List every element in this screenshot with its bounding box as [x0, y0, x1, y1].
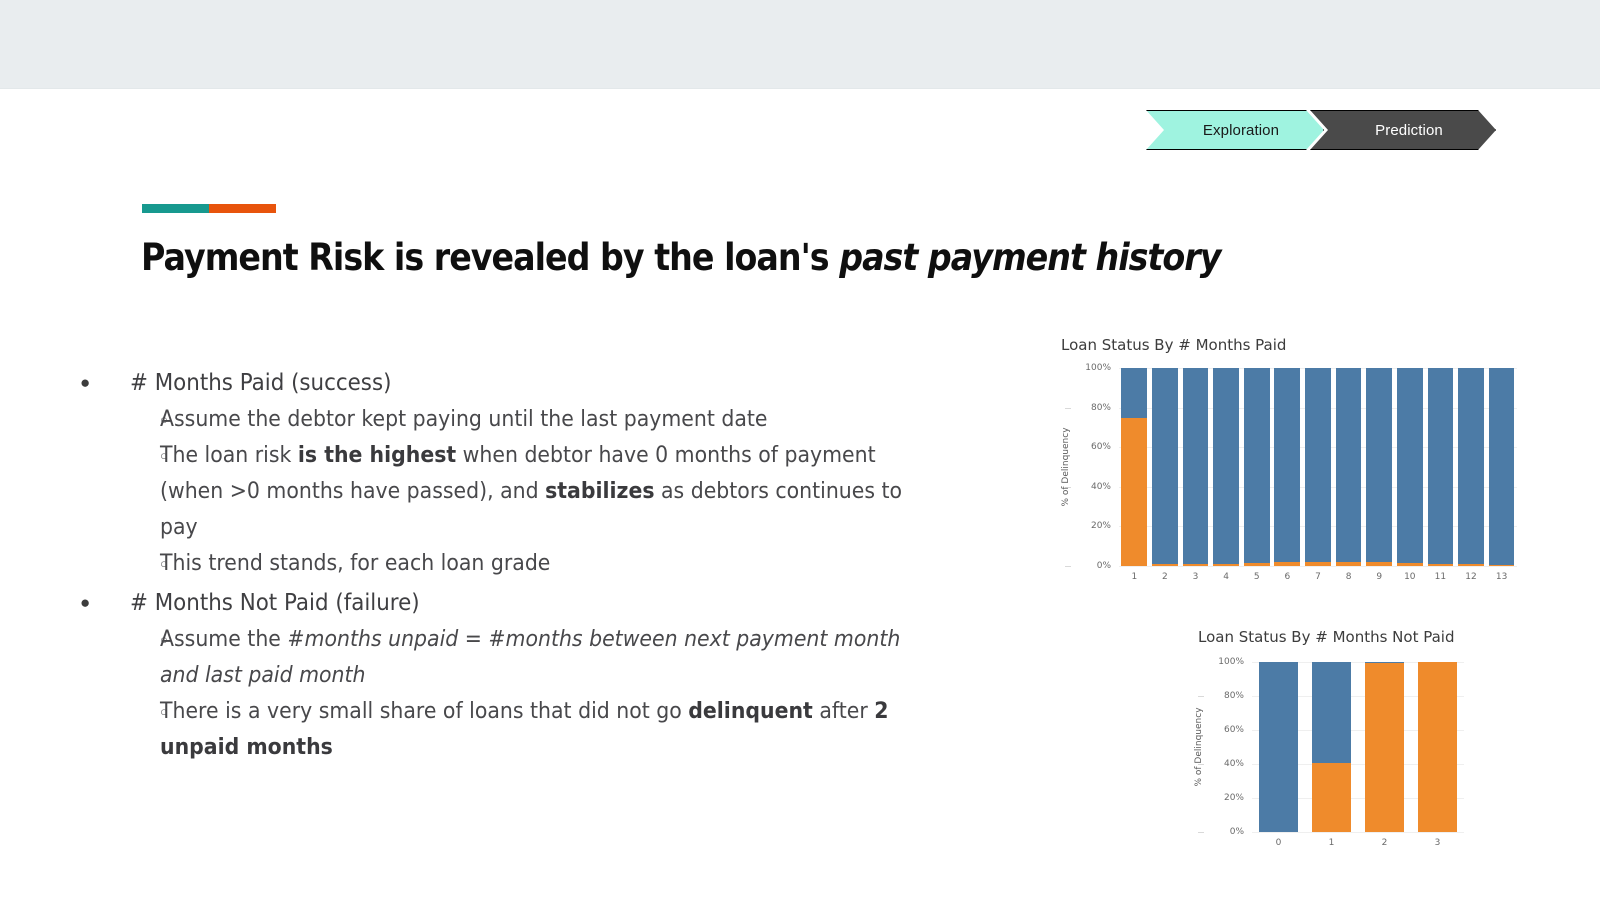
bullet-marker-icon: ●: [72, 364, 130, 402]
chart-x-tick-label: 3: [1411, 838, 1464, 848]
chart-bar-slot: [1150, 368, 1181, 566]
chart-y-tick-label: 80%: [1224, 691, 1244, 701]
chart-bar-slot: [1364, 368, 1395, 566]
chart-months-not-paid-title: Loan Status By # Months Not Paid: [1198, 628, 1530, 646]
page-title-emphasis: past payment history: [839, 236, 1220, 279]
chart-bar[interactable]: [1274, 368, 1300, 566]
chart-y-tick-label: 0%: [1230, 827, 1244, 837]
chart-bar[interactable]: [1121, 368, 1147, 566]
chart-bar[interactable]: [1312, 662, 1351, 832]
sub-bullet-marker-icon: ○: [72, 694, 160, 730]
header-band: [0, 0, 1600, 89]
chart-months-paid: Loan Status By # Months Paid 0%20%40%60%…: [1059, 336, 1529, 596]
chart-bar-segment-delinquent: [1366, 562, 1392, 566]
chart-bar-segment-delinquent: [1458, 564, 1484, 566]
chart-y-tick-label: 100%: [1085, 363, 1111, 373]
chart-y-tick-label: 40%: [1091, 482, 1111, 492]
chart-x-tick-label: 11: [1425, 572, 1456, 582]
chart-bar-slot: [1272, 368, 1303, 566]
chart-bar-segment-delinquent: [1489, 565, 1515, 566]
chart-x-tick-label: 10: [1394, 572, 1425, 582]
sub-bullet-marker-icon: ○: [72, 546, 160, 582]
chart-bar[interactable]: [1152, 368, 1178, 566]
chart-bar-slot: [1425, 368, 1456, 566]
chart-bar-slot: [1180, 368, 1211, 566]
chart-months-paid-title: Loan Status By # Months Paid: [1061, 336, 1529, 354]
chart-x-tick-label: 7: [1303, 572, 1334, 582]
bullet-sub-item-text: There is a very small share of loans tha…: [160, 694, 904, 766]
chart-bar-segment-not-delinquent: [1397, 368, 1423, 563]
chart-bar-slot: [1411, 662, 1464, 832]
chevron-step-exploration[interactable]: Exploration: [1146, 110, 1324, 150]
chevron-step-prediction-label: Prediction: [1375, 123, 1443, 138]
chart-bar[interactable]: [1305, 368, 1331, 566]
bullet-group: ●# Months Paid (success): [72, 364, 1032, 402]
chart-y-tick-label: 0%: [1097, 561, 1111, 571]
chart-months-paid-plot: 0%20%40%60%80%100%% of Delinquency123456…: [1119, 368, 1517, 566]
bullet-sub-item-text: This trend stands, for each loan grade: [160, 546, 550, 582]
bullet-sub-item: ○This trend stands, for each loan grade: [72, 546, 1032, 582]
chart-bar-segment-not-delinquent: [1489, 368, 1515, 565]
chart-bar-slot: [1394, 368, 1425, 566]
chart-bar-segment-delinquent: [1312, 763, 1351, 832]
chart-x-tick-label: 0: [1252, 838, 1305, 848]
chart-bar-slot: [1305, 662, 1358, 832]
chart-bar-segment-not-delinquent: [1428, 368, 1454, 564]
bullet-marker-icon: ●: [72, 584, 130, 622]
bullet-sub-item: ○Assume the #months unpaid = #months bet…: [72, 622, 1032, 694]
chart-x-tick-label: 2: [1358, 838, 1411, 848]
chart-y-tick-label: 20%: [1091, 521, 1111, 531]
chart-gridline: [1119, 566, 1517, 567]
slide-root: Exploration Prediction Payment Risk is r…: [0, 0, 1600, 900]
accent-rule: [142, 204, 276, 213]
chart-x-tick-label: 12: [1456, 572, 1487, 582]
process-chevron-bar: Exploration Prediction: [1146, 110, 1496, 150]
chart-x-tick-label: 3: [1180, 572, 1211, 582]
chart-bar-slot: [1241, 368, 1272, 566]
chart-bar[interactable]: [1336, 368, 1362, 566]
chart-bar-slot: [1119, 368, 1150, 566]
chart-bar-slot: [1333, 368, 1364, 566]
chart-months-not-paid: Loan Status By # Months Not Paid 0%20%40…: [1190, 628, 1530, 863]
chart-y-tick-label: 60%: [1224, 725, 1244, 735]
bullet-body: ●# Months Paid (success)○Assume the debt…: [72, 362, 1032, 766]
chart-bar-segment-not-delinquent: [1183, 368, 1209, 564]
chart-bar-slot: [1211, 368, 1242, 566]
chart-bar-segment-delinquent: [1397, 563, 1423, 566]
chart-x-tick-label: 9: [1364, 572, 1395, 582]
chart-bar[interactable]: [1418, 662, 1457, 832]
chart-bar[interactable]: [1489, 368, 1515, 566]
chart-bar[interactable]: [1365, 662, 1404, 832]
chart-bar-segment-not-delinquent: [1244, 368, 1270, 563]
chart-x-tick-label: 1: [1119, 572, 1150, 582]
chart-bar-segment-not-delinquent: [1213, 368, 1239, 564]
chart-x-tick-label: 13: [1486, 572, 1517, 582]
chart-bar-slot: [1486, 368, 1517, 566]
chart-y-axis-ticks: 0%20%40%60%80%100%: [1081, 368, 1115, 566]
chart-bar[interactable]: [1458, 368, 1484, 566]
chart-y-tick-label: 20%: [1224, 793, 1244, 803]
chart-y-axis-label: % of Delinquency: [1194, 707, 1204, 786]
chart-bar-slot: [1358, 662, 1411, 832]
chart-bar-segment-delinquent: [1305, 562, 1331, 566]
chart-y-tick-stub: [1065, 566, 1071, 567]
chart-bar-segment-not-delinquent: [1259, 662, 1298, 832]
chart-bar-segment-delinquent: [1183, 564, 1209, 566]
chart-bars: [1119, 368, 1517, 566]
bullet-sub-item: ○Assume the debtor kept paying until the…: [72, 402, 1032, 438]
chart-x-tick-label: 6: [1272, 572, 1303, 582]
chart-bar[interactable]: [1213, 368, 1239, 566]
chart-gridline: [1252, 832, 1464, 833]
chart-bar-segment-delinquent: [1336, 562, 1362, 566]
chart-x-axis-labels: 0123: [1252, 838, 1464, 848]
chevron-step-exploration-label: Exploration: [1203, 123, 1279, 138]
chart-bar-slot: [1252, 662, 1305, 832]
chart-bar-segment-not-delinquent: [1366, 368, 1392, 562]
bullet-group-heading: # Months Paid (success): [130, 364, 391, 402]
chart-y-tick-stub: [1198, 832, 1204, 833]
chart-x-tick-label: 4: [1211, 572, 1242, 582]
sub-bullet-marker-icon: ○: [72, 622, 160, 658]
chart-bar-segment-delinquent: [1418, 662, 1457, 832]
bullet-sub-item: ○There is a very small share of loans th…: [72, 694, 1032, 766]
chart-bar-segment-delinquent: [1121, 418, 1147, 567]
chart-bar-segment-not-delinquent: [1121, 368, 1147, 418]
chart-y-tick-stub: [1198, 696, 1204, 697]
bullet-sub-item-text: Assume the #months unpaid = #months betw…: [160, 622, 904, 694]
chart-x-tick-label: 2: [1150, 572, 1181, 582]
chart-y-axis-label: % of Delinquency: [1061, 427, 1071, 506]
chart-y-tick-label: 40%: [1224, 759, 1244, 769]
chart-bars: [1252, 662, 1464, 832]
chart-bar-segment-delinquent: [1274, 562, 1300, 566]
bullet-group-heading: # Months Not Paid (failure): [130, 584, 420, 622]
bullet-group: ●# Months Not Paid (failure): [72, 584, 1032, 622]
sub-bullet-marker-icon: ○: [72, 438, 160, 474]
chart-bar[interactable]: [1183, 368, 1209, 566]
bullet-sub-item-text: Assume the debtor kept paying until the …: [160, 402, 768, 438]
bullet-sub-item-text: The loan risk is the highest when debtor…: [160, 438, 904, 546]
chart-y-tick-stub: [1065, 408, 1071, 409]
chart-y-axis-ticks: 0%20%40%60%80%100%: [1214, 662, 1248, 832]
chart-bar-segment-delinquent: [1365, 663, 1404, 832]
accent-rule-teal: [142, 204, 209, 213]
chart-bar-slot: [1303, 368, 1334, 566]
bullet-sublist: ○Assume the debtor kept paying until the…: [72, 402, 1032, 582]
chart-x-tick-label: 8: [1333, 572, 1364, 582]
chart-x-axis-labels: 12345678910111213: [1119, 572, 1517, 582]
chart-y-tick-label: 60%: [1091, 442, 1111, 452]
chart-bar-segment-delinquent: [1428, 564, 1454, 566]
bullet-sublist: ○Assume the #months unpaid = #months bet…: [72, 622, 1032, 766]
chart-y-tick-label: 80%: [1091, 403, 1111, 413]
chart-bar-segment-not-delinquent: [1312, 662, 1351, 763]
chart-x-tick-label: 5: [1241, 572, 1272, 582]
chart-bar-segment-delinquent: [1152, 564, 1178, 566]
chart-bar-segment-not-delinquent: [1274, 368, 1300, 562]
chart-bar[interactable]: [1366, 368, 1392, 566]
chart-bar-segment-delinquent: [1244, 563, 1270, 566]
chart-y-tick-label: 100%: [1218, 657, 1244, 667]
chart-bar-segment-not-delinquent: [1336, 368, 1362, 562]
chart-bar[interactable]: [1244, 368, 1270, 566]
bullet-sub-item: ○The loan risk is the highest when debto…: [72, 438, 1032, 546]
page-title-main: Payment Risk is revealed by the loan's: [141, 236, 839, 279]
chart-bar-segment-not-delinquent: [1152, 368, 1178, 564]
chart-bar-segment-delinquent: [1213, 564, 1239, 566]
chart-bar[interactable]: [1428, 368, 1454, 566]
chart-bar[interactable]: [1397, 368, 1423, 566]
chart-bar-segment-not-delinquent: [1305, 368, 1331, 562]
chevron-step-prediction[interactable]: Prediction: [1310, 110, 1496, 150]
accent-rule-orange: [209, 204, 276, 213]
sub-bullet-marker-icon: ○: [72, 402, 160, 438]
chart-bar[interactable]: [1259, 662, 1298, 832]
page-title: Payment Risk is revealed by the loan's p…: [141, 236, 1203, 279]
chart-bar-segment-not-delinquent: [1458, 368, 1484, 564]
chart-bar-slot: [1456, 368, 1487, 566]
chart-months-not-paid-plot: 0%20%40%60%80%100%% of Delinquency0123: [1252, 662, 1464, 832]
chart-x-tick-label: 1: [1305, 838, 1358, 848]
